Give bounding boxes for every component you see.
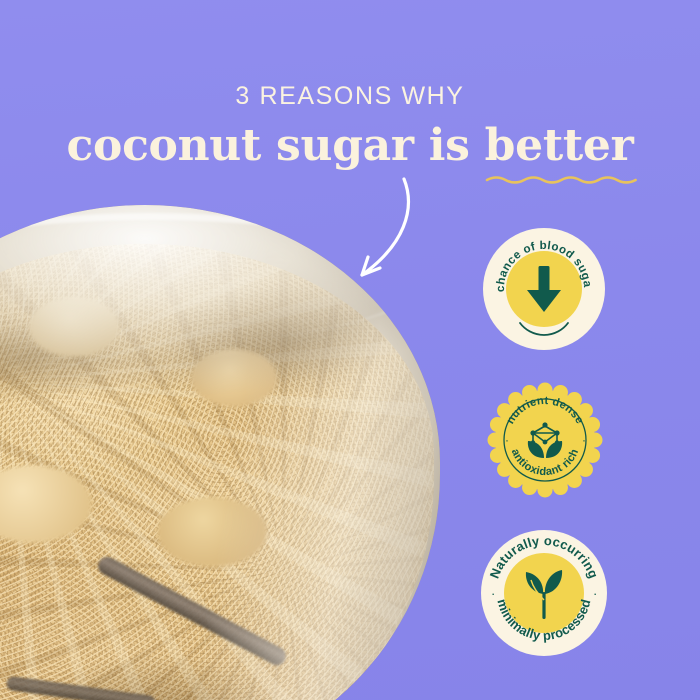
badge-naturally-occurring[interactable]: Naturally occurring minimally processed … — [481, 530, 607, 656]
eyebrow-text: 3 REASONS WHY — [0, 82, 700, 111]
curved-arrow-icon — [330, 175, 440, 290]
badge-2-separator-left: · — [505, 433, 509, 447]
sugar-clump — [157, 497, 267, 567]
badge-3-separator-right: · — [593, 586, 597, 601]
badge-2-separator-right: · — [582, 433, 586, 447]
coconut-sugar-heap — [0, 244, 434, 700]
sugar-clump — [29, 297, 119, 357]
page-title: coconut sugar is better — [0, 120, 700, 171]
badge-nutrient-dense[interactable]: nutrient dense antioxidant rich · · — [483, 378, 607, 502]
badge-lower-blood-sugar-spike[interactable]: lower chance of blood sugar spike — [483, 228, 605, 350]
wavy-underline-icon — [485, 173, 634, 185]
badge-3-separator-left: · — [491, 586, 495, 601]
infographic-canvas: 3 REASONS WHY coconut sugar is better — [0, 0, 700, 700]
